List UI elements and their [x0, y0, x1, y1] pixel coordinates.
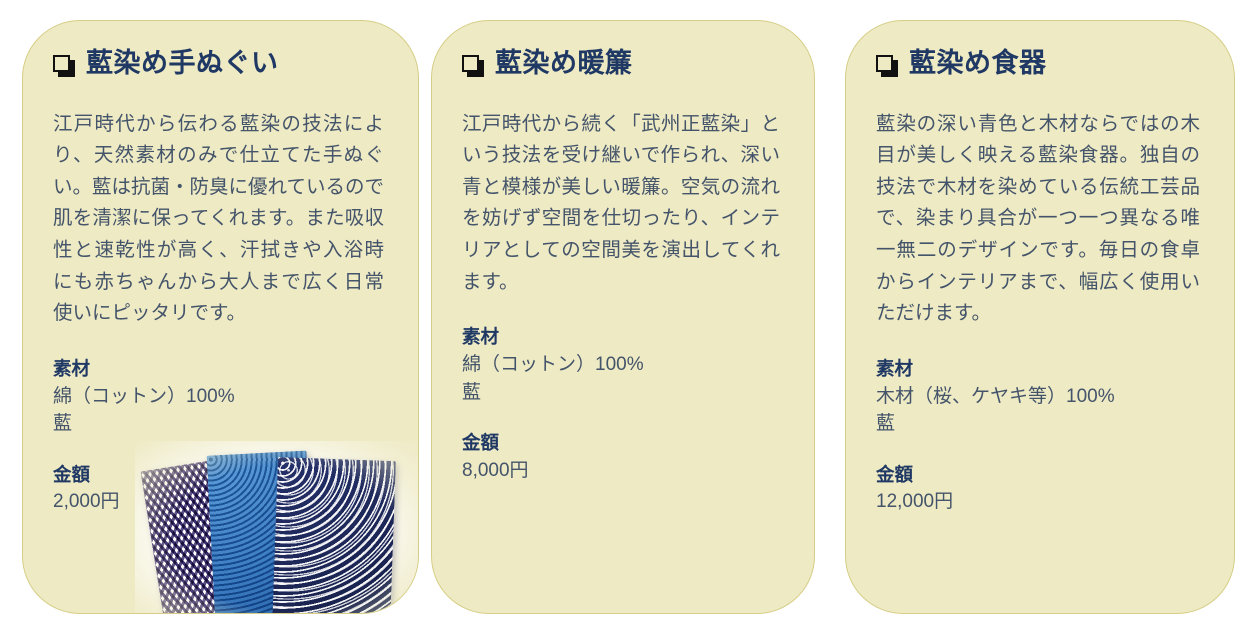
price-value: 12,000円 — [876, 488, 1200, 516]
card-description: 藍染の深い青色と木材ならではの木目が美しく映える藍染食器。独自の技法で木材を染め… — [876, 109, 1200, 330]
card-title: 藍染め手ぬぐい — [53, 49, 384, 79]
material-value: 木材（桜、ケヤキ等）100% 藍 — [876, 383, 1200, 438]
card-title: 藍染め暖簾 — [462, 49, 780, 79]
price-spec: 金額 12,000円 — [876, 462, 1200, 516]
card-content: 藍染め食器 藍染の深い青色と木材ならではの木目が美しく映える藍染食器。独自の技法… — [846, 21, 1234, 613]
card-title-text: 藍染め暖簾 — [495, 49, 633, 79]
card-title-text: 藍染め食器 — [909, 49, 1047, 79]
material-label: 素材 — [876, 356, 1200, 383]
material-value: 綿（コットン）100% 藍 — [462, 351, 780, 406]
price-value: 2,000円 — [53, 488, 384, 516]
card-content: 藍染め手ぬぐい 江戸時代から伝わる藍染の技法により、天然素材のみで仕立てた手ぬぐ… — [23, 21, 418, 613]
material-spec: 素材 綿（コットン）100% 藍 — [53, 356, 384, 438]
product-card-tableware[interactable]: 藍染め食器 藍染の深い青色と木材ならではの木目が美しく映える藍染食器。独自の技法… — [845, 20, 1235, 614]
material-spec: 素材 木材（桜、ケヤキ等）100% 藍 — [876, 356, 1200, 438]
price-label: 金額 — [876, 462, 1200, 489]
price-spec: 金額 2,000円 — [53, 462, 384, 516]
material-label: 素材 — [53, 356, 384, 383]
product-card-noren[interactable]: 藍染め暖簾 江戸時代から続く「武州正藍染」という技法を受け継いで作られ、深い青と… — [431, 20, 815, 614]
square-bullet-icon — [462, 55, 479, 72]
card-title: 藍染め食器 — [876, 49, 1200, 79]
price-spec: 金額 8,000円 — [462, 430, 780, 484]
product-card-tenugui[interactable]: 藍染め手ぬぐい 江戸時代から伝わる藍染の技法により、天然素材のみで仕立てた手ぬぐ… — [22, 20, 419, 614]
card-description: 江戸時代から続く「武州正藍染」という技法を受け継いで作られ、深い青と模様が美しい… — [462, 109, 780, 298]
product-card-board: 藍染め手ぬぐい 江戸時代から伝わる藍染の技法により、天然素材のみで仕立てた手ぬぐ… — [0, 0, 1256, 633]
material-value: 綿（コットン）100% 藍 — [53, 383, 384, 438]
square-bullet-icon — [876, 55, 893, 72]
card-content: 藍染め暖簾 江戸時代から続く「武州正藍染」という技法を受け継いで作られ、深い青と… — [432, 21, 814, 613]
card-description: 江戸時代から伝わる藍染の技法により、天然素材のみで仕立てた手ぬぐい。藍は抗菌・防… — [53, 109, 384, 330]
material-label: 素材 — [462, 324, 780, 351]
price-value: 8,000円 — [462, 457, 780, 485]
price-label: 金額 — [53, 462, 384, 489]
square-bullet-icon — [53, 55, 70, 72]
price-label: 金額 — [462, 430, 780, 457]
card-title-text: 藍染め手ぬぐい — [86, 49, 279, 79]
material-spec: 素材 綿（コットン）100% 藍 — [462, 324, 780, 406]
